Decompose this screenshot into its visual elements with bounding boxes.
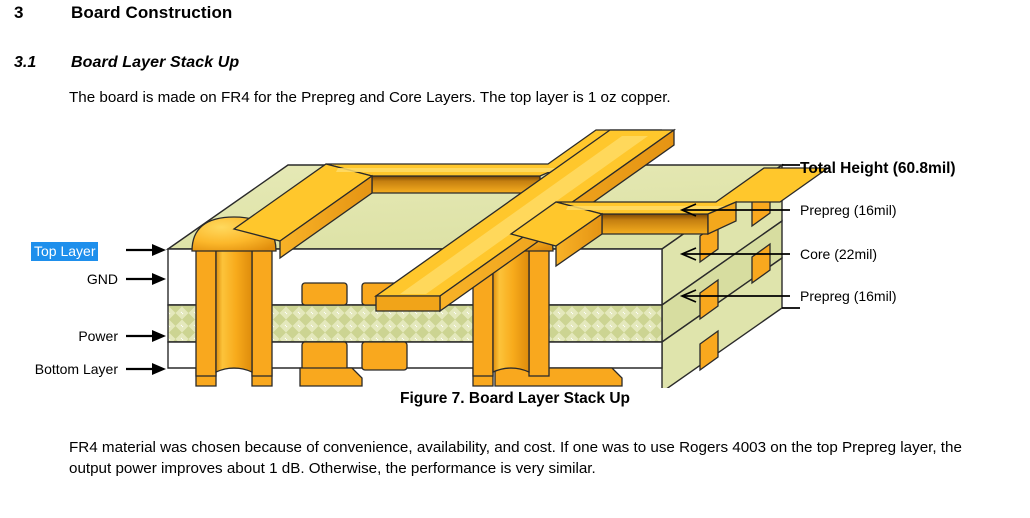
layer-label-top-layer[interactable]: Top Layer [31, 242, 98, 261]
section-title: Board Construction [71, 3, 232, 23]
layer-label-gnd: GND [18, 271, 118, 287]
prepreg-top-label: Prepreg (16mil) [800, 202, 896, 218]
via-left [192, 217, 276, 376]
intro-paragraph: The board is made on FR4 for the Prepreg… [69, 88, 949, 107]
core-label: Core (22mil) [800, 246, 877, 262]
total-height-label: Total Height (60.8mil) [800, 160, 956, 178]
outro-paragraph: FR4 material was chosen because of conve… [69, 438, 974, 479]
board-stackup-figure: Top Layer GND Power Bottom Layer Total H… [0, 118, 1030, 388]
layer-label-bottom-layer: Bottom Layer [0, 361, 118, 377]
layer-label-power: Power [18, 328, 118, 344]
subsection-title: Board Layer Stack Up [71, 54, 239, 72]
prepreg-bottom-label: Prepreg (16mil) [800, 288, 896, 304]
left-leader-lines [126, 250, 162, 369]
figure-caption: Figure 7. Board Layer Stack Up [0, 390, 1030, 408]
left-leader-arrowheads [152, 244, 166, 375]
subsection-heading: 3.1 Board Layer Stack Up [14, 54, 239, 72]
section-number: 3 [14, 3, 71, 23]
section-heading: 3 Board Construction [14, 3, 232, 23]
subsection-number: 3.1 [14, 54, 71, 72]
